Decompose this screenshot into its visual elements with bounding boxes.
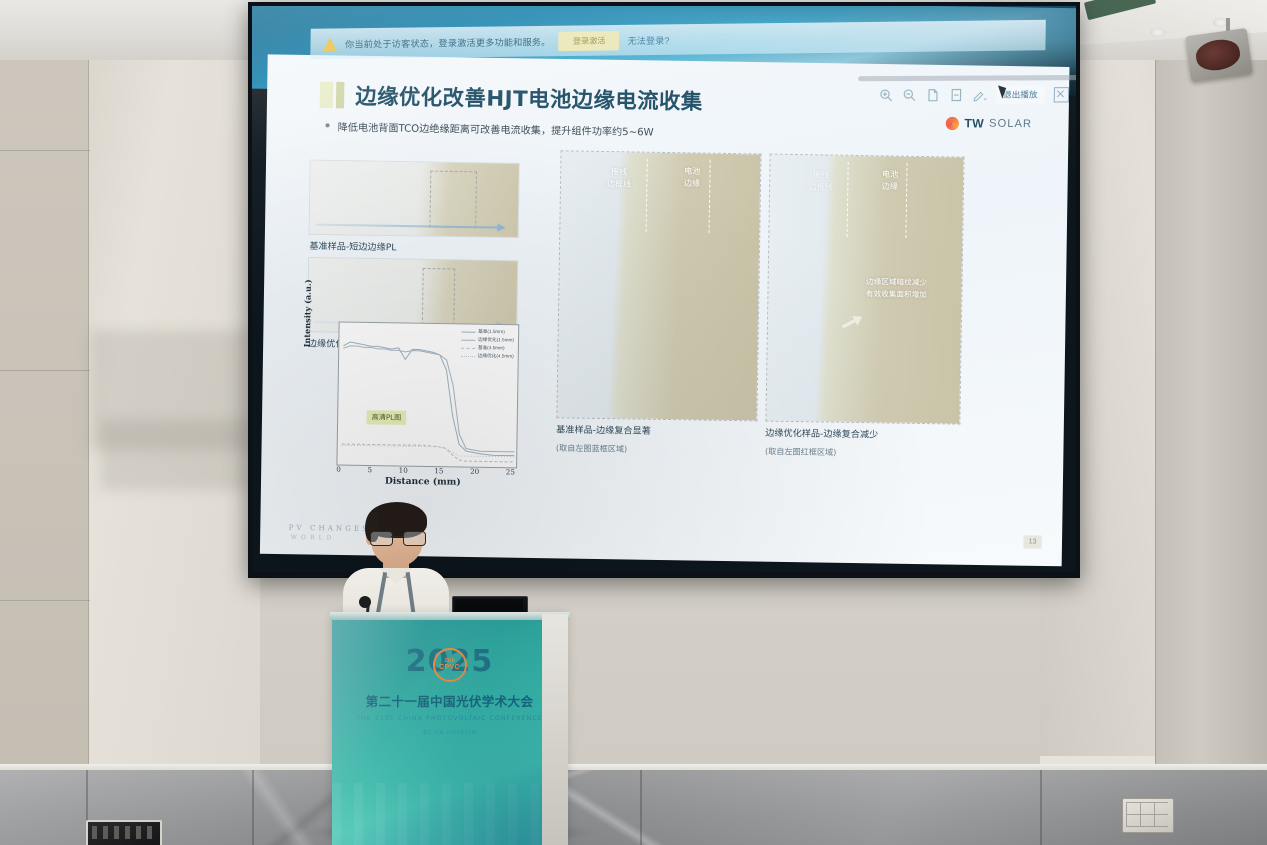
slide-page-number: 13 xyxy=(1023,535,1041,548)
left-wall-panel xyxy=(0,0,89,845)
x-tick: 0 xyxy=(336,466,341,474)
projection-screen: 你当前处于访客状态，登录激活更多功能和服务。 登录激活 无法登录? xyxy=(252,6,1076,572)
slide-title: 边缘优化改善HJT电池边缘电流收集 xyxy=(355,80,703,116)
panel-annotation-optimized: 边缘区域暗纹减少 有效收集面积增加 xyxy=(839,276,953,301)
panel-label-celledge: 电池 边缘 xyxy=(667,165,718,190)
tw-solar-logo-icon xyxy=(946,116,959,129)
chart-line-1 xyxy=(342,346,516,452)
legend-entry: 基准(4.5mm) xyxy=(461,345,514,352)
legend-entry: 边缘优化(4.5mm) xyxy=(460,353,513,360)
chart-x-tick-labels: 0 5 10 15 20 25 xyxy=(336,466,515,477)
legend-entry: 边缘优化(1.5mm) xyxy=(461,337,514,344)
x-tick: 20 xyxy=(470,468,479,476)
el-panel-optimized: 栅线 边框线 电池 边缘 边缘区域暗纹减少 有效收集面积增加 xyxy=(765,154,964,425)
slide-bullet-text: 降低电池背面TCO边绝缘距离可改善电流收集，提升组件功率约5~6W xyxy=(338,118,654,138)
pl-image-baseline xyxy=(310,161,519,237)
x-tick: 15 xyxy=(434,467,443,475)
slide-title-row: 边缘优化改善HJT电池边缘电流收集 xyxy=(320,80,703,116)
ceiling-downlight-icon xyxy=(1150,28,1166,37)
stone-veining xyxy=(0,770,1267,845)
chart-annotation: 高清PL图 xyxy=(366,410,406,425)
panel-label-gridline: 栅线 边框线 xyxy=(591,166,646,191)
tw-solar-logo: TW SOLAR xyxy=(946,116,1032,132)
chart-y-axis-label: Intensity (a.u.) xyxy=(302,279,313,347)
panel-label-gridline: 栅线 边框线 xyxy=(794,169,847,194)
slide-content: 边缘优化改善HJT电池边缘电流收集 降低电池背面TCO边绝缘距离可改善电流收集，… xyxy=(260,54,1070,566)
x-tick: 5 xyxy=(367,466,372,474)
conference-podium: 2025 21th CPVC 第二十一届中国光伏学术大会 THE 21ST CH… xyxy=(332,616,567,845)
warning-triangle-icon xyxy=(323,37,337,50)
left-wall xyxy=(0,0,260,845)
pl-strip-baseline: 基准样品-短边边缘PL xyxy=(309,161,518,256)
intensity-distance-chart: Intensity (a.u.) 基准(1.5mm) 边缘优化(1.5mm) 基… xyxy=(305,317,527,503)
caption-sub-optimized: (取自左图红框区域) xyxy=(765,446,836,458)
brand-name-light: SOLAR xyxy=(989,117,1032,130)
login-activate-button[interactable]: 登录激活 xyxy=(559,31,620,51)
x-tick: 25 xyxy=(506,468,515,476)
el-image-baseline xyxy=(557,151,760,420)
cannot-login-link[interactable]: 无法登录? xyxy=(628,33,670,47)
caption-optimized: 边缘优化样品-边缘复合减少 xyxy=(765,426,878,441)
guest-banner-message: 你当前处于访客状态，登录激活更多功能和服务。 xyxy=(345,34,551,50)
el-panel-baseline: 栅线 边框线 电池 边缘 xyxy=(556,150,761,421)
title-accent-icon xyxy=(320,82,345,109)
microphone-icon xyxy=(359,596,371,608)
conference-room-scene: 你当前处于访客状态，登录激活更多功能和服务。 登录激活 无法登录? xyxy=(0,0,1267,845)
chart-x-axis-label: Distance (mm) xyxy=(385,476,461,487)
legend-entry: 基准(1.5mm) xyxy=(461,328,514,335)
x-tick: 10 xyxy=(399,467,408,475)
slide-bullet: 降低电池背面TCO边绝缘距离可改善电流收集，提升组件功率约5~6W xyxy=(325,118,653,138)
bullet-dot-icon xyxy=(325,123,329,127)
brand-name-bold: TW xyxy=(964,116,984,131)
wall-panel-buttons[interactable] xyxy=(92,826,152,839)
chart-legend: 基准(1.5mm) 边缘优化(1.5mm) 基准(4.5mm) 边缘优化(4.5… xyxy=(460,328,514,359)
caption-sub-baseline: (取自左图蓝框区域) xyxy=(556,443,627,455)
slide-footer-line2: WORLD xyxy=(291,534,336,542)
chart-plot-area: 基准(1.5mm) 边缘优化(1.5mm) 基准(4.5mm) 边缘优化(4.5… xyxy=(336,321,519,468)
pl-label-baseline: 基准样品-短边边缘PL xyxy=(309,239,517,255)
wall-outlet-grid xyxy=(1126,802,1168,827)
podium-gloss xyxy=(332,616,567,845)
podium-side-panel xyxy=(542,614,568,845)
caption-baseline: 基准样品-边缘复合显著 xyxy=(556,422,651,437)
podium-surface xyxy=(330,612,570,620)
presenter-glasses-icon xyxy=(370,531,424,545)
projection-screen-frame: 你当前处于访客状态，登录激活更多功能和服务。 登录激活 无法登录? xyxy=(248,2,1080,578)
right-wall-column xyxy=(1155,46,1267,845)
panel-label-celledge: 电池 边缘 xyxy=(865,168,914,193)
